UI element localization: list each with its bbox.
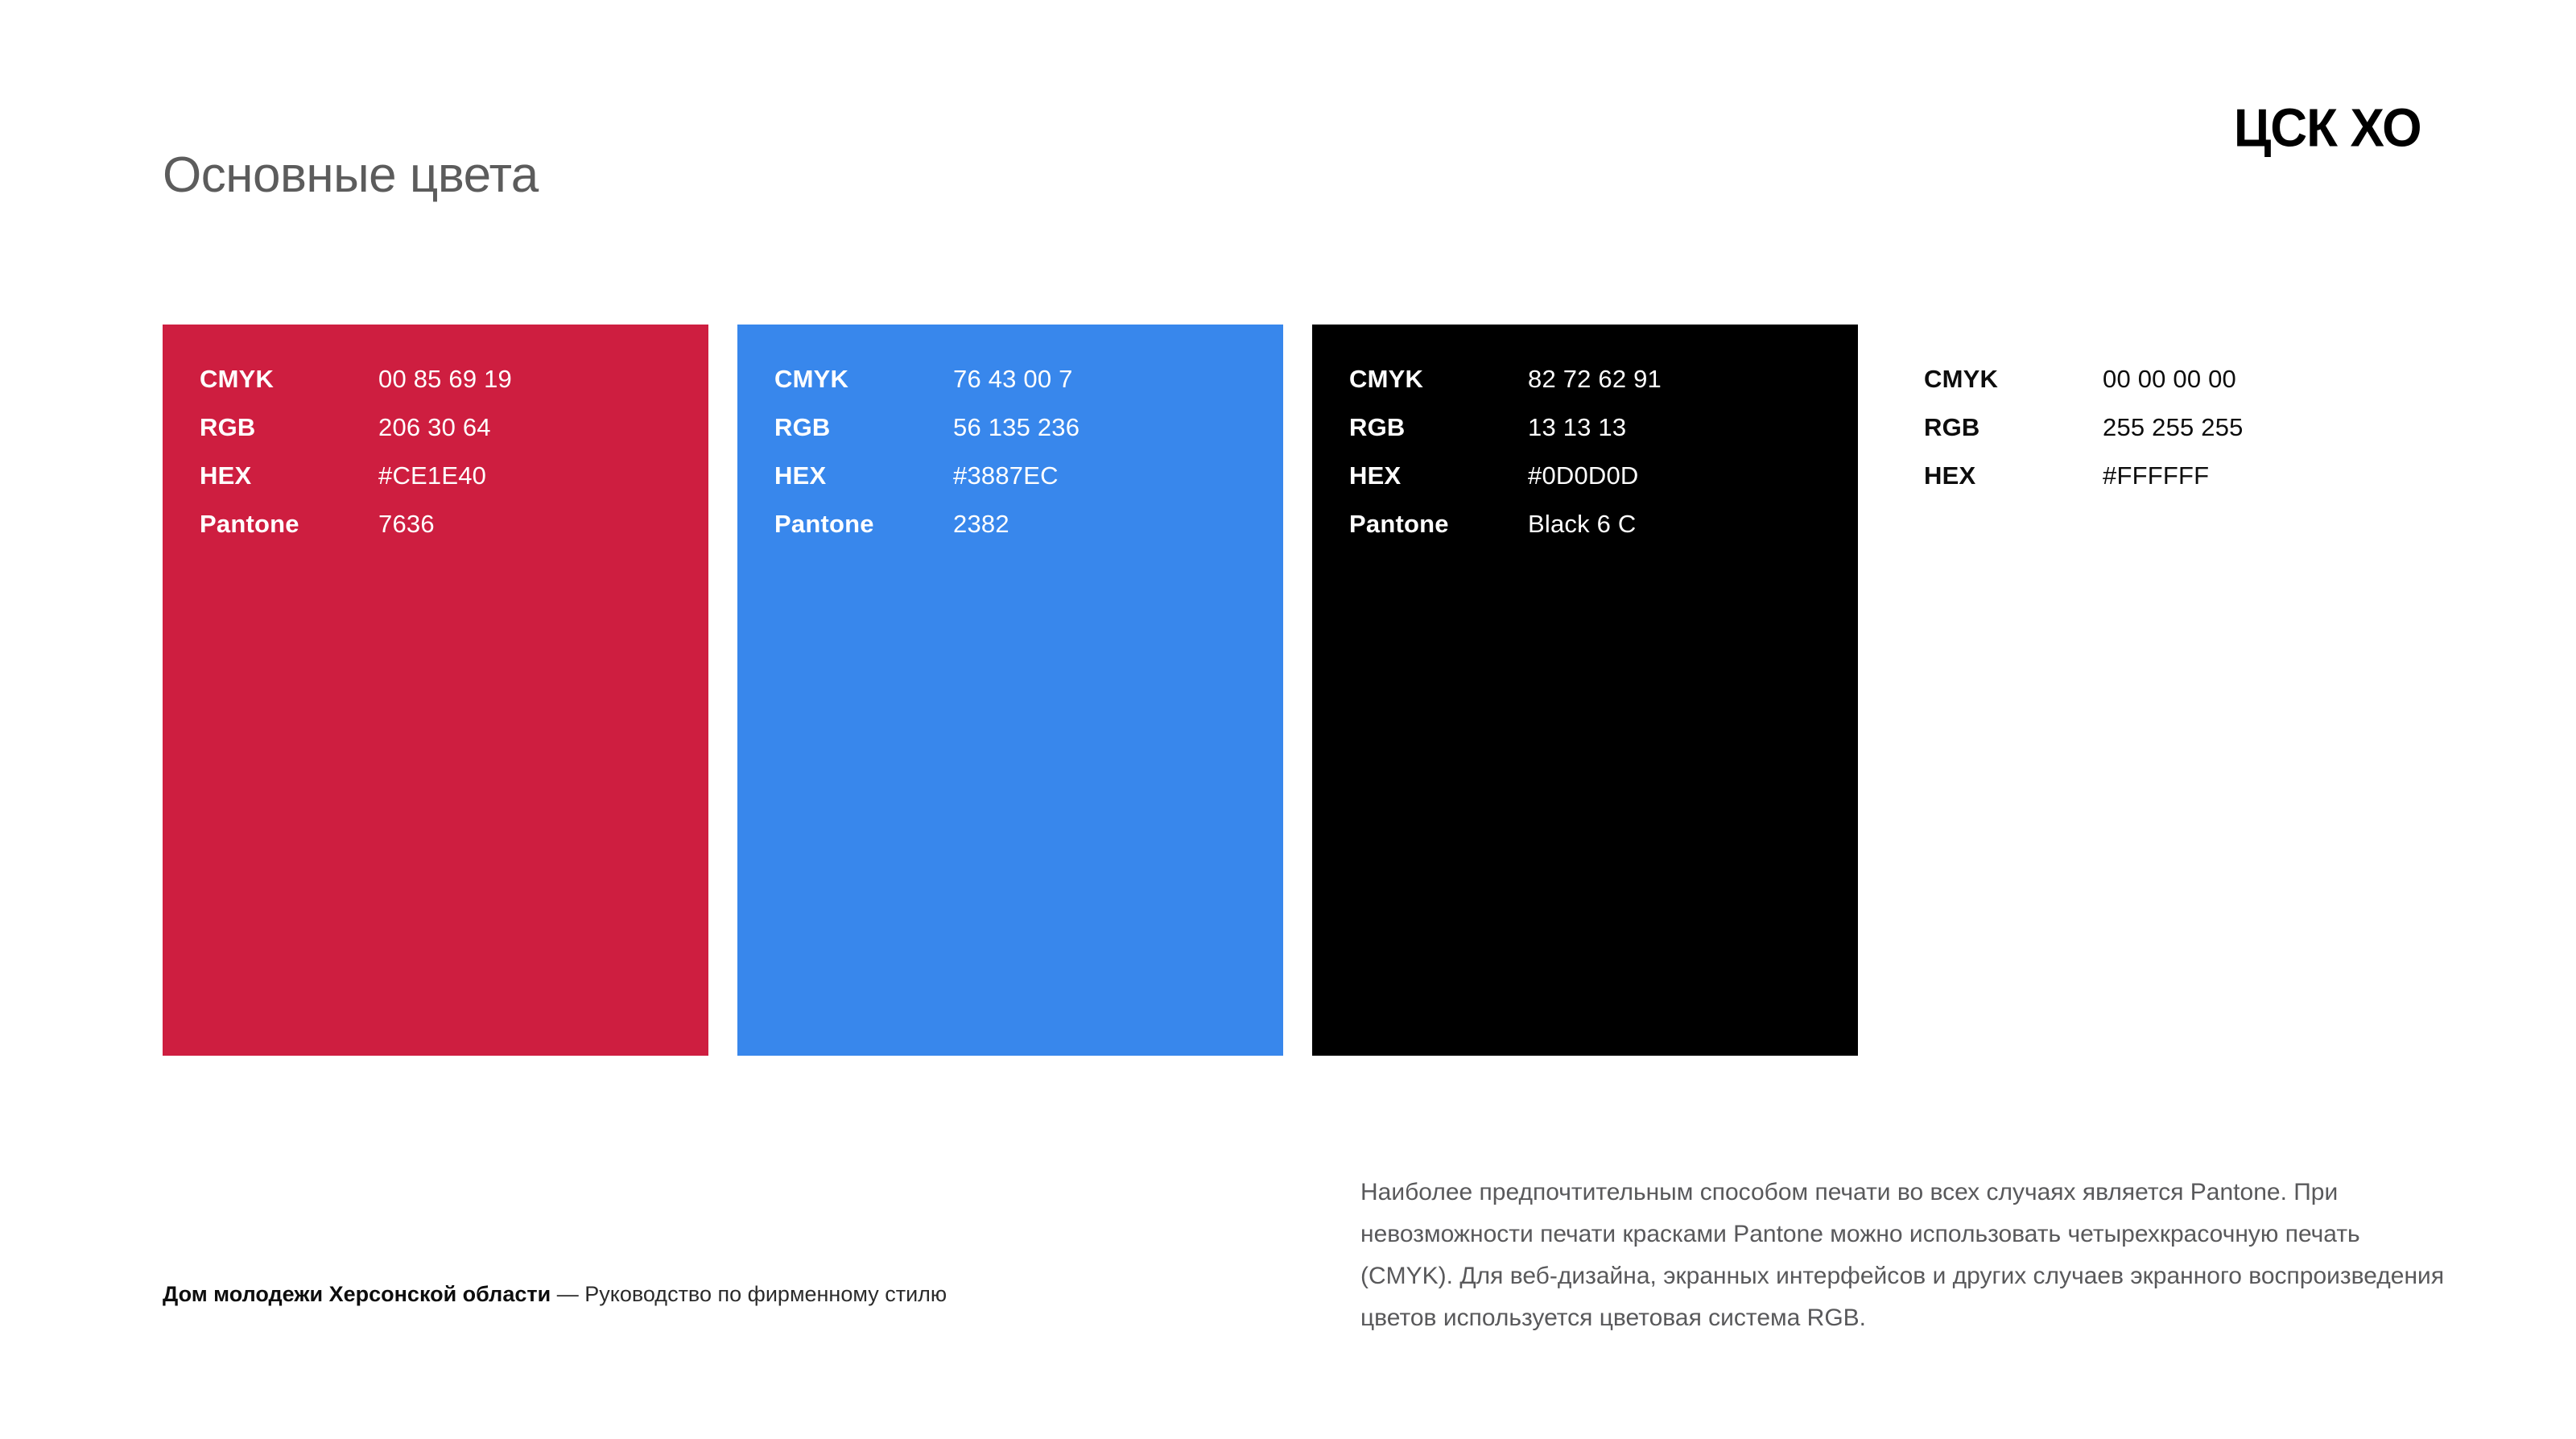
- spec-label-cmyk: CMYK: [774, 365, 953, 394]
- spec-row-rgb: RGB 255 255 255: [1924, 413, 2425, 461]
- spec-label-hex: HEX: [200, 461, 378, 490]
- spec-value-cmyk: 82 72 62 91: [1528, 365, 1662, 394]
- swatch-spec-table: CMYK 00 00 00 00 RGB 255 255 255 HEX #FF…: [1924, 365, 2425, 510]
- swatch-spec-table: CMYK 76 43 00 7 RGB 56 135 236 HEX #3887…: [774, 365, 1275, 558]
- spec-value-pantone: 2382: [953, 510, 1009, 539]
- spec-label-cmyk: CMYK: [1924, 365, 2103, 394]
- spec-value-hex: #3887EC: [953, 461, 1059, 490]
- spec-value-cmyk: 00 85 69 19: [378, 365, 512, 394]
- spec-value-rgb: 206 30 64: [378, 413, 491, 442]
- spec-row-pantone: Pantone 2382: [774, 510, 1275, 558]
- spec-label-pantone: Pantone: [1349, 510, 1528, 539]
- footer-organization: Дом молодежи Херсонской области: [163, 1282, 551, 1306]
- spec-row-pantone: Pantone 7636: [200, 510, 700, 558]
- spec-row-rgb: RGB 56 135 236: [774, 413, 1275, 461]
- spec-value-cmyk: 76 43 00 7: [953, 365, 1073, 394]
- spec-row-hex: HEX #0D0D0D: [1349, 461, 1850, 510]
- spec-row-rgb: RGB 206 30 64: [200, 413, 700, 461]
- spec-value-hex: #FFFFFF: [2103, 461, 2209, 490]
- spec-label-rgb: RGB: [1924, 413, 2103, 442]
- color-swatch-red: CMYK 00 85 69 19 RGB 206 30 64 HEX #CE1E…: [163, 325, 708, 1056]
- spec-label-rgb: RGB: [200, 413, 378, 442]
- spec-value-hex: #0D0D0D: [1528, 461, 1639, 490]
- color-swatch-black: CMYK 82 72 62 91 RGB 13 13 13 HEX #0D0D0…: [1312, 325, 1858, 1056]
- spec-value-pantone: Black 6 C: [1528, 510, 1636, 539]
- spec-value-rgb: 255 255 255: [2103, 413, 2244, 442]
- spec-label-rgb: RGB: [774, 413, 953, 442]
- spec-row-rgb: RGB 13 13 13: [1349, 413, 1850, 461]
- spec-row-hex: HEX #3887EC: [774, 461, 1275, 510]
- spec-value-hex: #CE1E40: [378, 461, 486, 490]
- spec-row-cmyk: CMYK 82 72 62 91: [1349, 365, 1850, 413]
- spec-label-rgb: RGB: [1349, 413, 1528, 442]
- page-title: Основные цвета: [163, 147, 539, 204]
- spec-row-cmyk: CMYK 00 85 69 19: [200, 365, 700, 413]
- spec-value-pantone: 7636: [378, 510, 435, 539]
- footer-subtitle: — Руководство по фирменному стилю: [551, 1282, 947, 1306]
- print-method-description: Наиболее предпочтительным способом печат…: [1360, 1172, 2455, 1339]
- spec-value-rgb: 56 135 236: [953, 413, 1080, 442]
- spec-label-hex: HEX: [774, 461, 953, 490]
- color-swatch-white: CMYK 00 00 00 00 RGB 255 255 255 HEX #FF…: [1887, 325, 2433, 1056]
- spec-row-cmyk: CMYK 76 43 00 7: [774, 365, 1275, 413]
- spec-label-cmyk: CMYK: [1349, 365, 1528, 394]
- spec-label-pantone: Pantone: [200, 510, 378, 539]
- color-swatch-blue: CMYK 76 43 00 7 RGB 56 135 236 HEX #3887…: [737, 325, 1283, 1056]
- spec-label-pantone: Pantone: [774, 510, 953, 539]
- swatch-spec-table: CMYK 82 72 62 91 RGB 13 13 13 HEX #0D0D0…: [1349, 365, 1850, 558]
- spec-value-rgb: 13 13 13: [1528, 413, 1626, 442]
- swatch-spec-table: CMYK 00 85 69 19 RGB 206 30 64 HEX #CE1E…: [200, 365, 700, 558]
- footer-caption: Дом молодежи Херсонской области — Руково…: [163, 1282, 947, 1307]
- spec-row-hex: HEX #CE1E40: [200, 461, 700, 510]
- spec-row-hex: HEX #FFFFFF: [1924, 461, 2425, 510]
- spec-row-cmyk: CMYK 00 00 00 00: [1924, 365, 2425, 413]
- spec-value-cmyk: 00 00 00 00: [2103, 365, 2236, 394]
- color-swatch-row: CMYK 00 85 69 19 RGB 206 30 64 HEX #CE1E…: [163, 325, 2441, 1056]
- spec-row-pantone: Pantone Black 6 C: [1349, 510, 1850, 558]
- spec-label-hex: HEX: [1924, 461, 2103, 490]
- spec-label-cmyk: CMYK: [200, 365, 378, 394]
- brand-logo: ЦСК ХО: [2234, 97, 2421, 159]
- spec-label-hex: HEX: [1349, 461, 1528, 490]
